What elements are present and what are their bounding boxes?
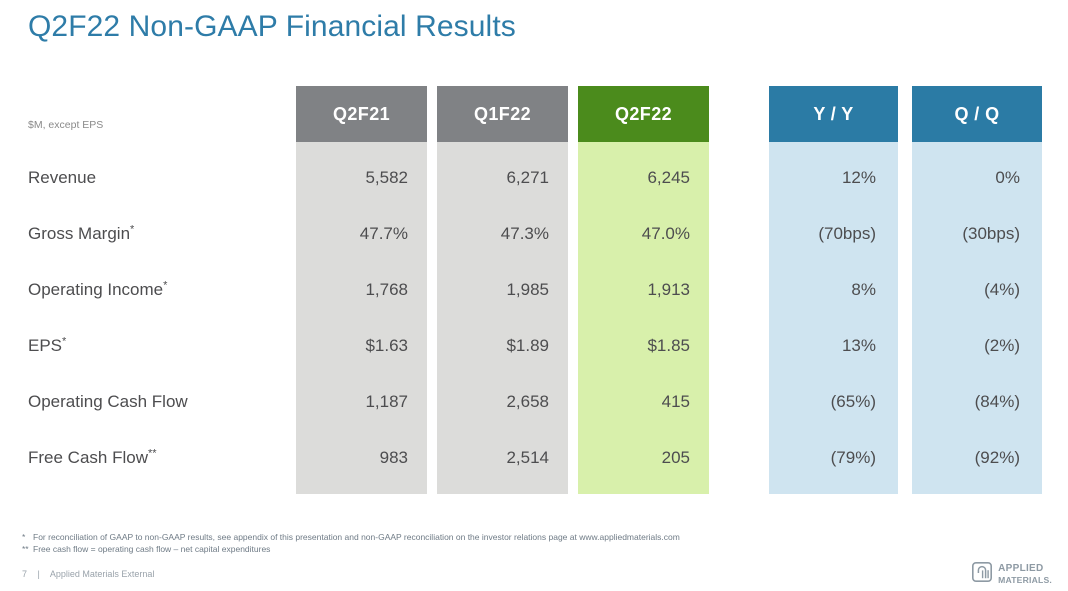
data-cell: (84%) bbox=[912, 374, 1042, 430]
applied-materials-wordmark: APPLIED MATERIALS. bbox=[998, 564, 1052, 585]
data-cell: 8% bbox=[769, 262, 898, 318]
row-label-text: Gross Margin bbox=[28, 224, 130, 243]
row-label: Operating Income* bbox=[28, 262, 288, 318]
footnote-marker: ** bbox=[22, 543, 33, 555]
data-cell: 1,985 bbox=[437, 262, 568, 318]
data-column: Q1F226,27147.3%1,985$1.892,6582,514 bbox=[437, 86, 568, 494]
column-body: 0%(30bps)(4%)(2%)(84%)(92%) bbox=[912, 142, 1042, 494]
page-number: 7 bbox=[22, 569, 27, 579]
row-label-text: EPS bbox=[28, 336, 62, 355]
row-label-footnote-marker: ** bbox=[148, 447, 157, 459]
applied-materials-logo: APPLIED MATERIALS. bbox=[972, 562, 1052, 587]
data-cell: 2,514 bbox=[437, 430, 568, 486]
row-label: EPS* bbox=[28, 318, 288, 374]
data-cell: (70bps) bbox=[769, 206, 898, 262]
data-cell: $1.89 bbox=[437, 318, 568, 374]
footnote-line: **Free cash flow = operating cash flow –… bbox=[22, 543, 680, 555]
data-cell: 13% bbox=[769, 318, 898, 374]
data-cell: 6,245 bbox=[578, 150, 709, 206]
row-label-list: RevenueGross Margin*Operating Income*EPS… bbox=[28, 150, 288, 486]
column-header: Q / Q bbox=[912, 86, 1042, 142]
column-body: 6,24547.0%1,913$1.85415205 bbox=[578, 142, 709, 494]
column-header: Y / Y bbox=[769, 86, 898, 142]
footnote-text: Free cash flow = operating cash flow – n… bbox=[33, 544, 270, 554]
footnote-text: For reconciliation of GAAP to non-GAAP r… bbox=[33, 532, 680, 542]
data-cell: 1,768 bbox=[296, 262, 427, 318]
data-cell: $1.85 bbox=[578, 318, 709, 374]
data-cell: 415 bbox=[578, 374, 709, 430]
column-header: Q2F22 bbox=[578, 86, 709, 142]
column-body: 12%(70bps)8%13%(65%)(79%) bbox=[769, 142, 898, 494]
data-cell: 5,582 bbox=[296, 150, 427, 206]
data-cell: 47.0% bbox=[578, 206, 709, 262]
data-cell: 205 bbox=[578, 430, 709, 486]
data-column: Q / Q0%(30bps)(4%)(2%)(84%)(92%) bbox=[912, 86, 1042, 494]
data-cell: 6,271 bbox=[437, 150, 568, 206]
row-label: Free Cash Flow** bbox=[28, 430, 288, 486]
column-body: 5,58247.7%1,768$1.631,187983 bbox=[296, 142, 427, 494]
data-column: Y / Y12%(70bps)8%13%(65%)(79%) bbox=[769, 86, 898, 494]
row-label-text: Revenue bbox=[28, 168, 96, 187]
page-title: Q2F22 Non-GAAP Financial Results bbox=[28, 10, 516, 44]
row-label-text: Operating Cash Flow bbox=[28, 392, 188, 411]
column-header: Q1F22 bbox=[437, 86, 568, 142]
data-cell: (65%) bbox=[769, 374, 898, 430]
applied-materials-mark-icon bbox=[972, 562, 992, 587]
row-label: Gross Margin* bbox=[28, 206, 288, 262]
data-cell: 983 bbox=[296, 430, 427, 486]
column-body: 6,27147.3%1,985$1.892,6582,514 bbox=[437, 142, 568, 494]
page-footer: 7 | Applied Materials External bbox=[22, 569, 154, 579]
row-label-text: Operating Income bbox=[28, 280, 163, 299]
row-label: Operating Cash Flow bbox=[28, 374, 288, 430]
logo-line-materials: MATERIALS. bbox=[998, 575, 1052, 586]
footer-label: Applied Materials External bbox=[50, 569, 155, 579]
row-label-footnote-marker: * bbox=[163, 279, 167, 291]
footer-separator: | bbox=[30, 569, 48, 579]
column-header: Q2F21 bbox=[296, 86, 427, 142]
footnote-line: *For reconciliation of GAAP to non-GAAP … bbox=[22, 531, 680, 543]
data-cell: 0% bbox=[912, 150, 1042, 206]
row-label-text: Free Cash Flow bbox=[28, 448, 148, 467]
data-cell: 47.3% bbox=[437, 206, 568, 262]
row-label-footnote-marker: * bbox=[130, 223, 134, 235]
data-cell: 1,187 bbox=[296, 374, 427, 430]
data-cell: (4%) bbox=[912, 262, 1042, 318]
logo-line-applied: APPLIED bbox=[998, 564, 1052, 575]
units-caption: $M, except EPS bbox=[28, 119, 103, 131]
footnote-marker: * bbox=[22, 531, 33, 543]
row-label-footnote-marker: * bbox=[62, 335, 66, 347]
data-cell: (2%) bbox=[912, 318, 1042, 374]
row-label: Revenue bbox=[28, 150, 288, 206]
data-cell: $1.63 bbox=[296, 318, 427, 374]
data-cell: (92%) bbox=[912, 430, 1042, 486]
data-cell: 1,913 bbox=[578, 262, 709, 318]
data-cell: 12% bbox=[769, 150, 898, 206]
data-cell: (79%) bbox=[769, 430, 898, 486]
footnotes: *For reconciliation of GAAP to non-GAAP … bbox=[22, 531, 680, 555]
data-cell: 47.7% bbox=[296, 206, 427, 262]
data-cell: 2,658 bbox=[437, 374, 568, 430]
data-column: Q2F226,24547.0%1,913$1.85415205 bbox=[578, 86, 709, 494]
data-column: Q2F215,58247.7%1,768$1.631,187983 bbox=[296, 86, 427, 494]
data-cell: (30bps) bbox=[912, 206, 1042, 262]
